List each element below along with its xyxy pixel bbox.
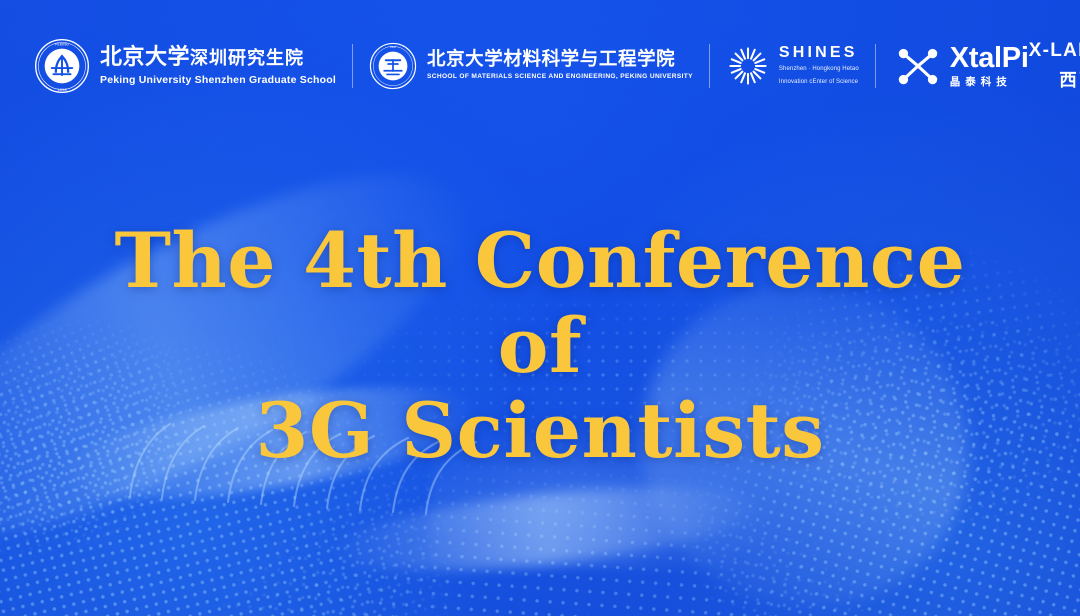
logo-peking-university-shenzhen-graduate-school: PEKING 1898 北京大学深圳研究生院 Peking University… <box>34 38 336 94</box>
logo-divider-1 <box>352 44 353 88</box>
svg-text:PKU: PKU <box>390 45 396 49</box>
xtalpi-name: XtalPi <box>950 44 1029 73</box>
x-lake-forum-en: X-LAKE FORUM <box>1029 40 1080 62</box>
shines-sub-line1: Shenzhen · Hongkong Hetao <box>779 65 859 74</box>
title-line-2: 3G Scientists <box>60 388 1020 473</box>
pku-en-name: Peking University Shenzhen Graduate Scho… <box>100 75 336 86</box>
logo-school-of-materials-science-and-engineering: PKU 北京大学材料科学与工程学院 SCHOOL OF MATERIALS SC… <box>369 42 693 90</box>
logo-divider-2 <box>709 44 710 88</box>
shines-sub-line2: Innovation cEnter of Science <box>779 78 859 87</box>
mse-cn-name: 北京大学材料科学与工程学院 <box>427 51 693 70</box>
pku-cn-main: 北京大学 <box>100 45 190 70</box>
pku-seal-icon: PEKING 1898 <box>34 38 90 94</box>
conference-poster: PEKING 1898 北京大学深圳研究生院 Peking University… <box>0 0 1080 616</box>
shines-burst-icon <box>726 44 770 88</box>
xtalpi-molecule-icon <box>892 40 944 92</box>
logo-x-lake-forum: X-LAKE FORUM 西丽湖论坛 <box>1029 40 1080 92</box>
svg-text:PEKING: PEKING <box>55 42 69 46</box>
header-logo-bar: PEKING 1898 北京大学深圳研究生院 Peking University… <box>0 0 1080 132</box>
mse-en-name: SCHOOL OF MATERIALS SCIENCE AND ENGINEER… <box>427 74 693 81</box>
pku-mse-seal-icon: PKU <box>369 42 417 90</box>
svg-text:1898: 1898 <box>57 88 67 92</box>
logo-shines: SHINES Shenzhen · Hongkong Hetao Innovat… <box>726 44 859 88</box>
shines-name: SHINES <box>779 45 859 61</box>
title-line-1: The 4th Conference of <box>60 218 1020 388</box>
x-lake-forum-cn: 西丽湖论坛 <box>1029 67 1080 92</box>
xtalpi-cn-name: 晶泰科技 <box>950 77 1029 88</box>
page-title: The 4th Conference of 3G Scientists <box>0 218 1080 473</box>
logo-xtalpi: XtalPi 晶泰科技 <box>892 40 1029 92</box>
pku-cn-sub: 深圳研究生院 <box>190 48 304 69</box>
logo-divider-3 <box>875 44 876 88</box>
